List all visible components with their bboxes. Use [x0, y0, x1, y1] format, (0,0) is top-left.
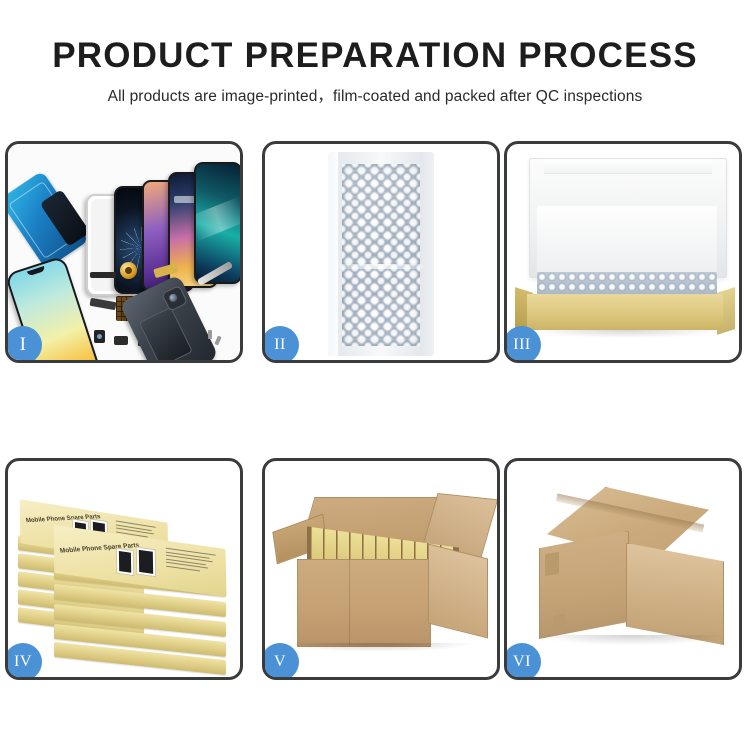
- step-panel-1: I: [5, 141, 243, 363]
- product-preparation-infographic: PRODUCT PREPARATION PROCESS All products…: [0, 0, 750, 750]
- tape-patch-icon: [545, 552, 559, 576]
- step-badge-5: V: [262, 643, 299, 680]
- page-title: PRODUCT PREPARATION PROCESS: [0, 38, 750, 73]
- flex-cable-icon: [90, 272, 116, 278]
- carton-front-face-icon: [297, 559, 431, 647]
- drop-shadow: [539, 635, 725, 645]
- step-badge-2: II: [262, 326, 299, 363]
- carton-right-face-icon: [626, 543, 724, 645]
- step-badge-4: IV: [5, 643, 42, 680]
- step-4-image: Mobile Phone Spare Parts Mobile Phone Sp…: [8, 461, 240, 677]
- step-1-image: [8, 144, 240, 360]
- step-badge-1: I: [5, 326, 42, 363]
- drop-shadow: [533, 330, 719, 338]
- step-2-image: [265, 144, 497, 360]
- step-panel-3: III: [504, 141, 742, 363]
- step-badge-3: III: [504, 326, 541, 363]
- bubble-wrap-texture-icon: [342, 164, 420, 346]
- mailer-front-panel-icon: [527, 294, 723, 330]
- box-stack-icon: Mobile Phone Spare Parts Mobile Phone Sp…: [16, 481, 240, 665]
- drop-shadow: [295, 643, 475, 652]
- page-subtitle: All products are image-printed，film-coat…: [0, 89, 750, 105]
- bubble-wrap-sleeve-icon: [328, 152, 434, 356]
- phone-teal-screen-icon: [194, 162, 240, 284]
- wrap-seal-icon: [338, 264, 424, 269]
- carton-side-face-icon: [428, 544, 488, 639]
- step-panel-2: II: [262, 141, 500, 363]
- speaker-icon: [114, 336, 128, 345]
- camera-module-icon: [94, 330, 105, 343]
- step-panel-4: Mobile Phone Spare Parts Mobile Phone Sp…: [5, 458, 243, 680]
- carton-seam: [349, 559, 350, 645]
- header: PRODUCT PREPARATION PROCESS All products…: [0, 0, 750, 105]
- foam-sheet-icon: [537, 206, 717, 278]
- sealed-carton-icon: [525, 487, 729, 659]
- step-panel-6: VI: [504, 458, 742, 680]
- screw-icon: [208, 330, 212, 339]
- step-6-image: [507, 461, 739, 677]
- steps-grid: I II III: [5, 141, 745, 680]
- tape-patch-icon: [553, 614, 565, 634]
- step-5-image: [265, 461, 497, 677]
- step-badge-6: VI: [504, 643, 541, 680]
- step-panel-5: V: [262, 458, 500, 680]
- open-carton-icon: [279, 497, 489, 655]
- step-3-image: [507, 144, 739, 360]
- vibration-motor-icon: [120, 262, 137, 279]
